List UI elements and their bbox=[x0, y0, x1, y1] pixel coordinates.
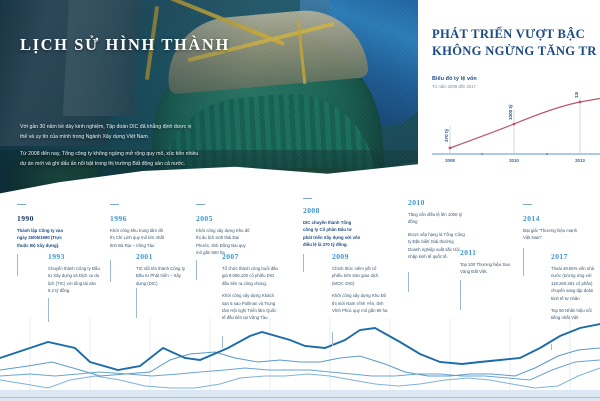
hero-body-text: Với gần 30 năm bề dày kinh nghiệm, Tập đ… bbox=[20, 123, 200, 170]
timeline-connector-2011 bbox=[460, 280, 461, 310]
right-header-section: PHÁT TRIỂN VƯỢT BẬC KHÔNG NGỪNG TĂNG TR … bbox=[418, 0, 600, 213]
timeline-item-1993[interactable]: 1993 Chuyển thành Công ty Đầu tư Xây dựn… bbox=[48, 252, 100, 295]
poster-page: LỊCH SỬ HÌNH THÀNH Với gần 30 năm bề dày… bbox=[0, 0, 600, 401]
timeline-year-2014: 2014 bbox=[523, 214, 579, 223]
capital-chart-point-2010 bbox=[513, 123, 516, 126]
timeline-text-2007-2: Khởi công xây dựng Khách sạn 5 sao Pullm… bbox=[222, 292, 278, 322]
timeline-connector-2017 bbox=[551, 344, 552, 350]
timeline-connector-2007 bbox=[222, 336, 223, 348]
capital-chart-point-2008 bbox=[449, 147, 452, 150]
capital-chart-line bbox=[450, 96, 600, 148]
timeline-stub-1996 bbox=[110, 204, 119, 205]
timeline-item-2014[interactable]: 2014 Đạt giải "Thương hiệu mạnh Việt Nam… bbox=[523, 214, 579, 242]
timeline-year-1990: 1990 bbox=[17, 214, 69, 223]
capital-chart-minor-tick-1 bbox=[481, 153, 483, 155]
footer-bar bbox=[0, 390, 600, 401]
timeline-connector-1996 bbox=[110, 260, 111, 282]
right-header-line-2: KHÔNG NGỪNG TĂNG TR bbox=[432, 43, 600, 60]
capital-chart-label-2008: 370 tỷ bbox=[444, 129, 449, 142]
timeline-connector-2005 bbox=[196, 260, 197, 280]
timeline-text-2017-1: Thoái 49.65% vốn nhà nước (tương ứng với… bbox=[551, 265, 600, 302]
timeline-year-2010: 2010 bbox=[408, 198, 466, 207]
capital-chart-plot: 370 tỷ 1000 tỷ 1300 tỷ 2008 2010 2013 bbox=[432, 92, 600, 166]
timeline-year-1996: 1996 bbox=[110, 214, 164, 223]
timeline-year-2011: 2011 bbox=[460, 248, 516, 257]
timeline-text-2010-2: Được xếp hạng là Tổng Công ty Đặc biệt/ … bbox=[408, 231, 466, 261]
timeline-connector-2010 bbox=[408, 272, 409, 292]
timeline-item-1996[interactable]: 1996 Khởi công khu trung tâm đô thị Chí … bbox=[110, 214, 164, 249]
capital-chart-point-2013 bbox=[579, 101, 582, 104]
timeline-year-2007: 2007 bbox=[222, 252, 278, 261]
timeline-year-1993: 1993 bbox=[48, 252, 100, 261]
capital-chart-svg: 370 tỷ 1000 tỷ 1300 tỷ 2008 2010 2013 bbox=[432, 92, 600, 166]
timeline-connector-2009 bbox=[332, 332, 333, 346]
timeline-text-2014-1: Đạt giải "Thương hiệu mạnh Việt Nam" bbox=[523, 227, 579, 242]
capital-chart-tick-2010: 2010 bbox=[509, 158, 519, 163]
capital-chart-label-2010: 1000 tỷ bbox=[508, 104, 513, 120]
timeline-item-2010[interactable]: 2010 Tăng vốn điều lệ lên 1000 tỷ đồng Đ… bbox=[408, 198, 466, 260]
timeline-text-1993-1: Chuyển thành Công ty Đầu tư Xây dựng và … bbox=[48, 265, 100, 295]
timeline-item-2005[interactable]: 2005 Khởi công xây dựng Khu đô thị du lị… bbox=[196, 214, 252, 257]
capital-chart-title: Biểu đồ tỷ lệ vốn bbox=[432, 76, 600, 82]
timeline-year-2017: 2017 bbox=[551, 252, 600, 261]
timeline-stub-2014 bbox=[523, 204, 532, 205]
timeline-text-2010-1: Tăng vốn điều lệ lên 1000 tỷ đồng bbox=[408, 211, 466, 226]
timeline-text-2017-2: Top 50 Nhãn hiệu nổi tiếng nhất Việt bbox=[551, 307, 600, 322]
capital-chart-tick-2008: 2008 bbox=[445, 158, 455, 163]
hero-paragraph-1: Với gần 30 năm bề dày kinh nghiệm, Tập đ… bbox=[20, 123, 200, 142]
footer-bar-rule bbox=[0, 397, 600, 398]
timeline-item-2008[interactable]: 2008 DIC chuyển thành Tổng công ty Cổ ph… bbox=[303, 206, 361, 249]
timeline-item-2007[interactable]: 2007 Tổ chức thành công buổi đấu giá 9.0… bbox=[222, 252, 278, 322]
timeline-item-2009[interactable]: 2009 Chính thức niêm yết cổ phiếu trên S… bbox=[332, 252, 388, 314]
timeline-stub-1990 bbox=[17, 204, 26, 205]
capital-chart-minor-tick-2 bbox=[546, 153, 548, 155]
timeline-year-2001: 2001 bbox=[136, 252, 190, 261]
timeline-text-2007-1: Tổ chức thành công buổi đấu giá 9.006.10… bbox=[222, 265, 278, 287]
timeline-year-2005: 2005 bbox=[196, 214, 252, 223]
timeline-item-2017[interactable]: 2017 Thoái 49.65% vốn nhà nước (tương ứn… bbox=[551, 252, 600, 322]
timeline-text-1996-1: Khởi công khu trung tâm đô thị Chí Linh … bbox=[110, 227, 164, 249]
timeline-connector-1993 bbox=[48, 298, 49, 322]
timeline-text-2009-2: Khởi công xây dựng Khu Đô thị mới Nam Vĩ… bbox=[332, 292, 388, 314]
capital-chart: Biểu đồ tỷ lệ vốn Từ năm 2008 đến 2017 bbox=[432, 76, 600, 174]
timeline-year-2009: 2009 bbox=[332, 252, 388, 261]
timeline-text-2001-1: TIC đổi tên thành Công ty Đầu tư Phát tr… bbox=[136, 265, 190, 287]
timeline-connector-2014 bbox=[523, 248, 524, 276]
timeline-text-1990-1: Thành lập Công ty vào ngày 26/05/1990 (T… bbox=[17, 227, 69, 249]
right-header-title: PHÁT TRIỂN VƯỢT BẬC KHÔNG NGỪNG TĂNG TR bbox=[432, 26, 600, 59]
page-title: LỊCH SỬ HÌNH THÀNH bbox=[20, 35, 230, 55]
hero-paragraph-2: Từ 2008 đến nay, Tổng công ty không ngừn… bbox=[20, 150, 200, 169]
timeline-item-1990[interactable]: 1990 Thành lập Công ty vào ngày 26/05/19… bbox=[17, 214, 69, 249]
right-header-line-1: PHÁT TRIỂN VƯỢT BẬC bbox=[432, 26, 600, 43]
capital-chart-label-2013: 1300 tỷ bbox=[574, 92, 579, 98]
timeline: 1990 Thành lập Công ty vào ngày 26/05/19… bbox=[0, 196, 600, 341]
timeline-connector-2008 bbox=[303, 254, 304, 272]
timeline-text-2008-1: DIC chuyển thành Tổng công ty Cổ phần Đầ… bbox=[303, 219, 361, 249]
timeline-connector-2001 bbox=[136, 288, 137, 318]
timeline-connector-1990 bbox=[17, 254, 18, 276]
capital-chart-tick-2013: 2013 bbox=[575, 158, 585, 163]
capital-chart-subtitle: Từ năm 2008 đến 2017 bbox=[432, 84, 600, 89]
timeline-text-2009-1: Chính thức niêm yết cổ phiếu trên Sàn gi… bbox=[332, 265, 388, 287]
timeline-text-2011-1: Top 100 Thương hiệu Sao Vàng Đất Việt. bbox=[460, 261, 516, 276]
timeline-stub-2008 bbox=[303, 198, 312, 199]
timeline-item-2011[interactable]: 2011 Top 100 Thương hiệu Sao Vàng Đất Vi… bbox=[460, 248, 516, 276]
timeline-stub-2005 bbox=[196, 204, 205, 205]
timeline-year-2008: 2008 bbox=[303, 206, 361, 215]
timeline-item-2001[interactable]: 2001 TIC đổi tên thành Công ty Đầu tư Ph… bbox=[136, 252, 190, 287]
